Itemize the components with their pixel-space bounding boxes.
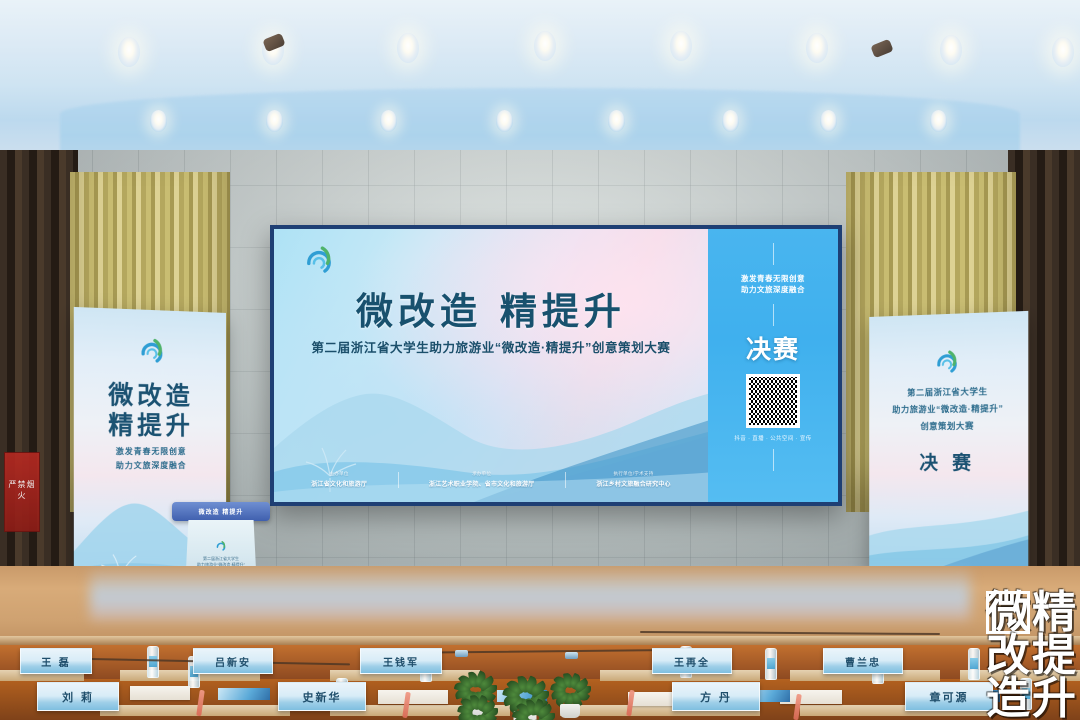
wave-swirl-logo-icon (215, 540, 227, 552)
side-panel-slogan: 激发青春无限创意 助力文旅深度融合 (741, 273, 805, 296)
stage-floor-reflection (90, 566, 970, 620)
name-card-label: 章可源 (930, 689, 969, 705)
curtain-dark-left (0, 150, 78, 620)
fire-safety-sign: 严禁烟火 (4, 452, 40, 532)
downlight (930, 110, 947, 132)
name-card: 方 丹 (672, 682, 760, 711)
name-card: 史新华 (278, 682, 366, 711)
organizer-item: 执行单位/学术支持 浙江乡村文旅融合研究中心 (596, 471, 670, 488)
banner-right: 第二届浙江省大学生 助力旅游业“微改造·精提升” 创意策划大赛 决 赛 (869, 311, 1028, 593)
led-main-title: 微改造 精提升 (274, 281, 708, 335)
ceiling-speaker-icon (870, 39, 893, 59)
organizer-separator (398, 472, 399, 488)
downlight (940, 35, 962, 65)
banner-left-sub-line-1: 激发青春无限创意 (74, 446, 226, 457)
banner-right-stage-label: 决 赛 (869, 448, 1028, 476)
name-card: 吕新安 (193, 648, 273, 674)
potted-plant (510, 694, 556, 720)
slogan-line-2: 助力文旅深度融合 (741, 284, 805, 295)
name-card: 王钱军 (360, 648, 442, 674)
potted-plant (455, 690, 499, 720)
name-card-label: 刘 莉 (62, 689, 94, 705)
downlight (266, 110, 283, 132)
name-card: 王 磊 (20, 648, 92, 674)
name-card: 刘 莉 (37, 682, 119, 711)
organizer-role: 主办单位 (311, 471, 367, 477)
downlight (150, 110, 167, 132)
downlight (820, 110, 837, 132)
side-panel-divider-top (773, 243, 774, 265)
organizer-role: 执行单位/学术支持 (596, 471, 670, 477)
banner-left-title-line-2: 精提升 (74, 405, 226, 442)
led-screen: 微改造 精提升 第二届浙江省大学生助力旅游业“微改造·精提升”创意策划大赛 主办… (270, 225, 842, 506)
watermark-char: 提 (1032, 634, 1076, 677)
downlight (534, 31, 556, 61)
side-panel-stage-label: 决赛 (746, 336, 800, 365)
downlight (806, 33, 828, 63)
watermark-column-1: 微 改 造 (986, 591, 1030, 720)
watermark-char: 造 (986, 677, 1030, 720)
banner-right-line-2: 助力旅游业“微改造·精提升” (869, 402, 1028, 416)
led-organizer-list: 主办单位 浙江省文化和旅游厅 承办单位 浙江艺术职业学院、省市文化和旅游厅 执行… (274, 471, 708, 488)
side-panel-divider-bottom (773, 449, 774, 471)
microphone-base (455, 650, 468, 657)
banner-right-line-1: 第二届浙江省大学生 (869, 385, 1028, 400)
stage-front-edge (0, 636, 1080, 645)
watermark-column-2: 精 提 升 (1032, 591, 1076, 720)
organizer-separator (565, 472, 566, 488)
organizer-name: 浙江艺术职业学院、省市文化和旅游厅 (429, 479, 534, 488)
watermark-char: 微 (986, 591, 1030, 634)
organizer-item: 主办单位 浙江省文化和旅游厅 (311, 471, 367, 488)
wave-swirl-logo-icon (933, 348, 960, 377)
fire-safety-sign-label: 严禁烟火 (5, 479, 39, 501)
plant-pot (560, 704, 580, 718)
document-sheet (130, 686, 190, 700)
podium-top: 微改造 精提升 (172, 502, 270, 521)
name-card: 章可源 (905, 682, 993, 711)
microphone-base (565, 652, 578, 659)
banner-left-sub-line-2: 助力文旅深度融合 (74, 460, 226, 472)
side-panel-divider-mid (773, 304, 774, 326)
organizer-name: 浙江省文化和旅游厅 (311, 479, 367, 488)
document-sheet (378, 690, 448, 704)
qr-caption: 抖音 · 直播 · 公共空间 · 宣传 (734, 434, 811, 442)
podium-top-label: 微改造 精提升 (172, 507, 270, 516)
watermark: 微 改 造 精 提 升 (986, 591, 1076, 720)
downlight (608, 110, 625, 132)
downlight (380, 110, 397, 132)
watermark-char: 精 (1032, 591, 1076, 634)
slogan-line-1: 激发青春无限创意 (741, 273, 805, 284)
desk-surface (100, 705, 290, 716)
wave-swirl-logo-icon (137, 336, 166, 367)
name-card-label: 方 丹 (700, 689, 732, 705)
organizer-name: 浙江乡村文旅融合研究中心 (596, 479, 670, 488)
water-bottle (968, 648, 980, 680)
name-card: 曹兰忠 (823, 648, 903, 674)
downlight (397, 33, 419, 63)
downlight (496, 110, 513, 132)
downlight (118, 37, 140, 67)
water-bottle (147, 646, 159, 678)
wave-swirl-logo-icon (302, 243, 336, 277)
organizer-role: 承办单位 (429, 471, 534, 477)
name-card-label: 王钱军 (383, 654, 419, 669)
name-card: 王再全 (652, 648, 732, 674)
name-card-label: 曹兰忠 (845, 654, 881, 669)
led-side-panel: 激发青春无限创意 助力文旅深度融合 决赛 抖音 · 直播 · 公共空间 · 宣传 (708, 229, 838, 502)
downlight (722, 110, 739, 132)
name-card-label: 王 磊 (41, 654, 70, 669)
brochure (218, 688, 270, 700)
organizer-item: 承办单位 浙江艺术职业学院、省市文化和旅游厅 (429, 471, 534, 488)
watermark-char: 改 (986, 634, 1030, 677)
name-card-label: 史新华 (303, 689, 342, 705)
watermark-char: 升 (1032, 677, 1076, 720)
banner-right-line-3: 创意策划大赛 (869, 419, 1028, 432)
water-bottle (765, 648, 777, 680)
downlight (670, 31, 692, 61)
stage-label-text: 决赛 (746, 336, 800, 365)
auditorium-scene: 严禁烟火 微改造 精提升 第二届浙江省大学生助力旅游业“微改造·精提升”创意策划… (0, 0, 1080, 720)
name-card-label: 王再全 (674, 654, 710, 669)
qr-code (746, 374, 800, 428)
downlight (1052, 37, 1074, 67)
name-card-label: 吕新安 (215, 654, 251, 669)
